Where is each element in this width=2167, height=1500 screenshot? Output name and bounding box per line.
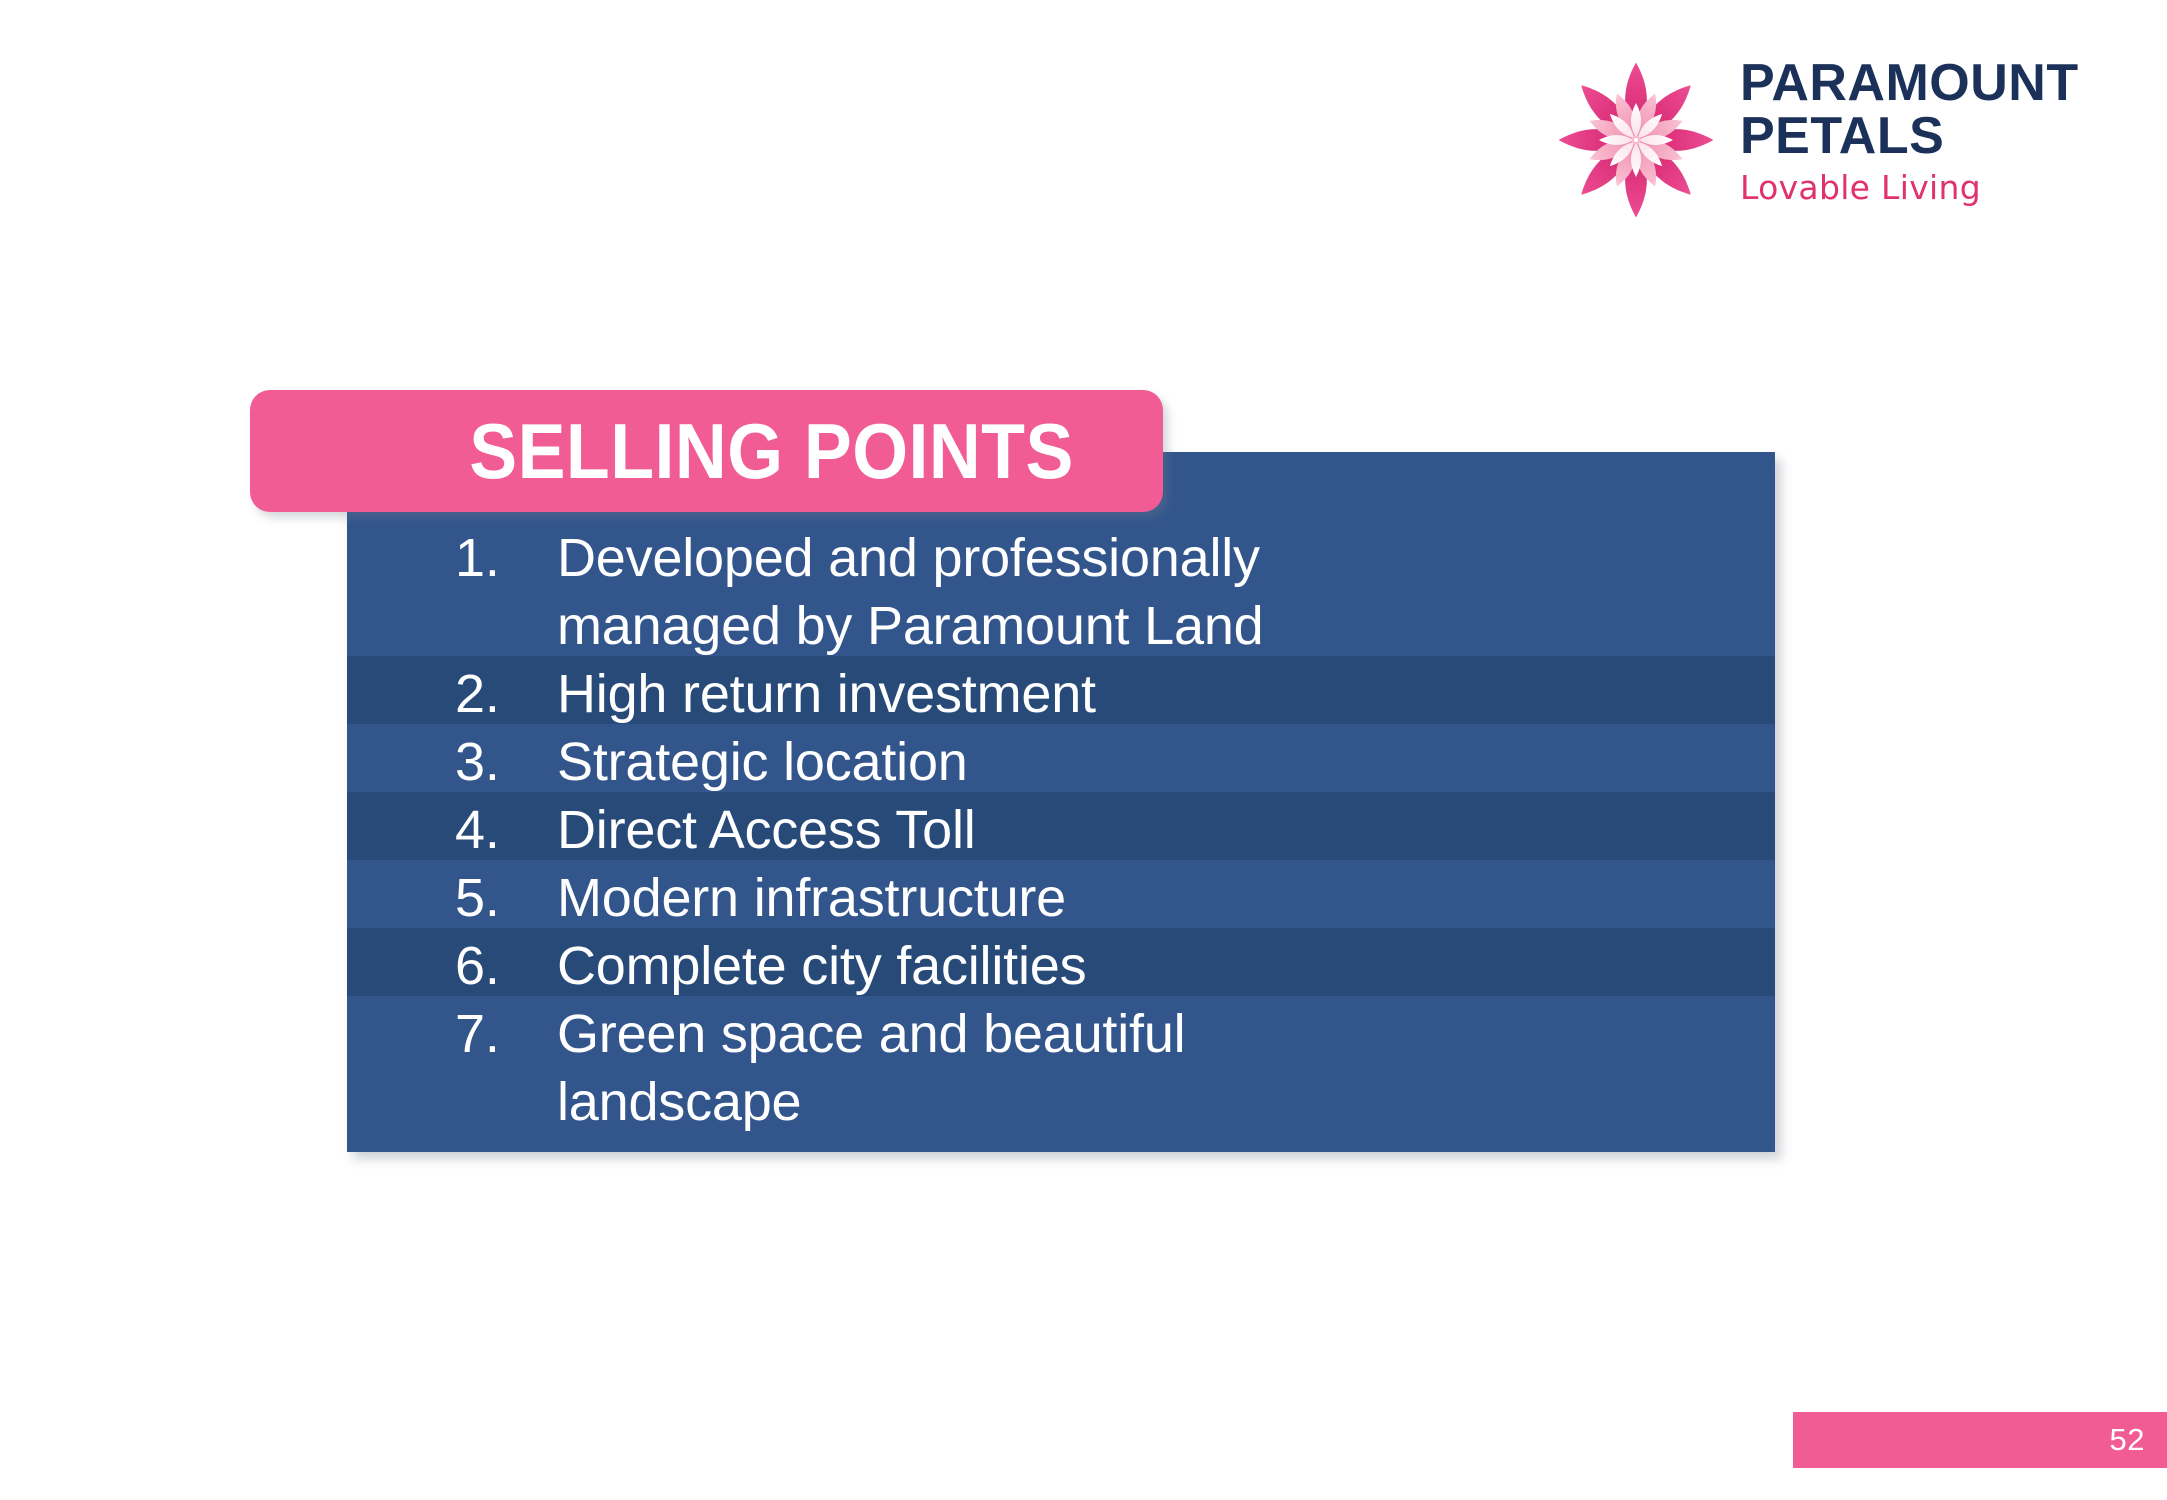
list-item-number: 5. (455, 864, 557, 932)
selling-points-list: 1.Developed and professionally managed b… (347, 452, 1775, 1152)
list-item-number: 2. (455, 660, 557, 728)
list-item-text: Green space and beautiful landscape (557, 1000, 1397, 1136)
list-item-number: 6. (455, 932, 557, 1000)
list-item-number: 1. (455, 524, 557, 592)
brand-name-line2: PETALS (1740, 111, 2130, 162)
list-item: 6.Complete city facilities (455, 932, 1755, 1000)
brand-name-line1: PARAMOUNT (1740, 58, 2130, 109)
page-number: 52 (2110, 1422, 2145, 1458)
list-item-text: Developed and professionally managed by … (557, 524, 1397, 660)
list-item: 7.Green space and beautiful landscape (455, 1000, 1755, 1136)
selling-points-panel: 1.Developed and professionally managed b… (347, 452, 1775, 1152)
list-item: 3.Strategic location (455, 728, 1755, 796)
section-title-tab: SELLING POINTS (250, 390, 1163, 512)
brand-wordmark: PARAMOUNT PETALS Lovable Living (1740, 40, 2130, 230)
page-number-bar: 52 (1793, 1412, 2167, 1468)
list-item-text: Complete city facilities (557, 932, 1397, 1000)
slide-canvas: PARAMOUNT PETALS Lovable Living 1.Develo… (0, 0, 2167, 1500)
list-item: 2.High return investment (455, 660, 1755, 728)
flower-icon (1548, 52, 1724, 228)
list-item: 1.Developed and professionally managed b… (455, 524, 1755, 660)
list-item-number: 7. (455, 1000, 557, 1068)
list-item-text: Direct Access Toll (557, 796, 1397, 864)
brand-logo: PARAMOUNT PETALS Lovable Living (1548, 40, 2128, 230)
page-title: SELLING POINTS (469, 406, 1073, 497)
list-item: 5.Modern infrastructure (455, 864, 1755, 932)
list-item: 4.Direct Access Toll (455, 796, 1755, 864)
list-item-number: 3. (455, 728, 557, 796)
list-item-text: High return investment (557, 660, 1397, 728)
list-item-number: 4. (455, 796, 557, 864)
list-item-text: Modern infrastructure (557, 864, 1397, 932)
list-item-text: Strategic location (557, 728, 1397, 796)
brand-tagline: Lovable Living (1740, 168, 2130, 207)
